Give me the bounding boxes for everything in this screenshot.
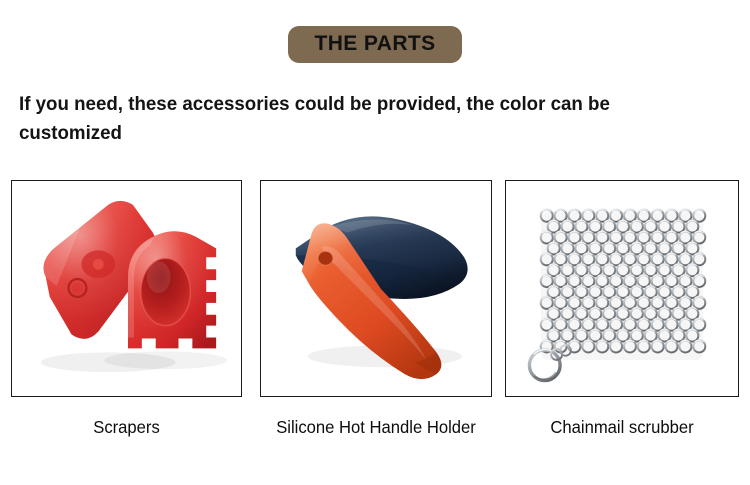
- product-caption-row: Scrapers Silicone Hot Handle Holder Chai…: [0, 414, 750, 444]
- caption-scrapers: Scrapers: [17, 414, 236, 440]
- notched-scraper: [128, 231, 216, 348]
- product-image-scrapers: [17, 186, 236, 391]
- section-title-text: THE PARTS: [314, 33, 435, 55]
- product-card-scrapers[interactable]: [11, 180, 242, 397]
- product-card-row: [0, 180, 750, 398]
- chainmail-illustration: [511, 186, 733, 391]
- subtitle-text: If you need, these accessories could be …: [19, 90, 703, 148]
- header-badge-row: THE PARTS: [0, 26, 750, 63]
- product-card-chainmail-scrubber[interactable]: [505, 180, 739, 397]
- silicone-holder-illustration: [266, 186, 486, 391]
- scraper-shadow-2: [104, 351, 227, 369]
- caption-chainmail-scrubber: Chainmail scrubber: [511, 414, 733, 440]
- caption-silicone-hot-handle-holder: Silicone Hot Handle Holder: [245, 414, 507, 440]
- section-title-badge: THE PARTS: [288, 26, 461, 63]
- product-card-silicone-hot-handle-holder[interactable]: [260, 180, 492, 397]
- product-image-silicone-hot-handle-holder: [266, 186, 486, 391]
- parts-accessories-banner: THE PARTS If you need, these accessories…: [0, 0, 750, 485]
- scrapers-illustration: [17, 186, 236, 391]
- product-image-chainmail-scrubber: [511, 186, 733, 391]
